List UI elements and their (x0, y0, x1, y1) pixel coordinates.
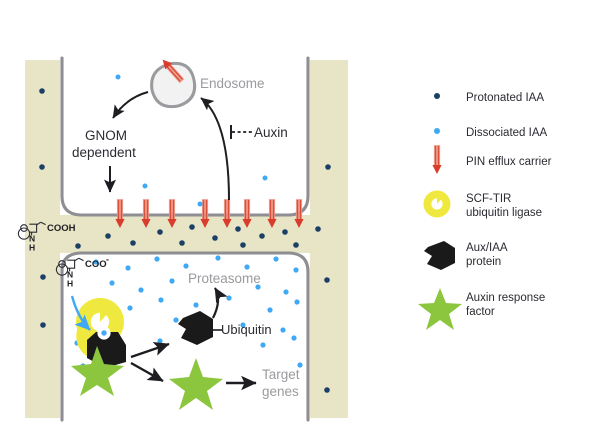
legend-label-protonated-iaa: Protonated IAA (466, 92, 544, 104)
release-branch-arrow (131, 363, 163, 381)
target-genes-label-line2: genes (262, 384, 299, 399)
legend-label-arf-line1: Auxin response (466, 292, 545, 304)
legend-dot-dark-icon (434, 93, 440, 99)
ubiquitinated-aux-iaa (178, 311, 213, 345)
legend-label-scf-tir-line2: ubiquitin ligase (466, 207, 542, 219)
auxin-inhibition-connector (231, 125, 252, 139)
legend-item-protonated-iaa: Protonated IAA (434, 92, 544, 104)
target-genes-label-line1: Target (262, 367, 300, 382)
legend-item-aux-iaa-protein: Aux/IAA protein (424, 241, 508, 270)
legend-pin-arrow-icon (432, 145, 441, 174)
endosome-label: Endosome (200, 76, 265, 91)
legend-item-auxin-response-factor: Auxin response factor (418, 288, 545, 330)
legend-black-shield-icon (424, 241, 455, 270)
auxin-label: Auxin (254, 125, 288, 140)
dissociated-hydrogen-label: H (67, 279, 73, 289)
legend-item-scf-tir: SCF-TIR ubiquitin ligase (424, 191, 543, 220)
proteasome-arrow (213, 288, 218, 318)
endocytosis-arrow (201, 98, 229, 200)
legend-label-scf-tir-line1: SCF-TIR (466, 193, 511, 205)
ubiquitin-label: Ubiquitin (221, 322, 272, 337)
legend-label-arf-line2: factor (466, 306, 495, 318)
legend-dot-light-icon (434, 128, 440, 134)
legend-label-aux-iaa-line1: Aux/IAA (466, 242, 508, 254)
proteasome-label: Proteasome (188, 271, 261, 286)
legend: Protonated IAA Dissociated IAA PIN efflu… (418, 92, 552, 330)
legend-item-dissociated-iaa: Dissociated IAA (434, 127, 548, 139)
dissociated-formula-label: COO (85, 259, 107, 270)
figure-canvas: Endosome GNOM dependent Auxin (0, 0, 600, 438)
protonated-formula-label: COOH (47, 223, 76, 234)
protonated-hydrogen-label: H (29, 243, 35, 253)
legend-green-star-icon (418, 288, 462, 330)
legend-label-dissociated-iaa: Dissociated IAA (466, 127, 548, 139)
legend-label-pin-efflux-carrier: PIN efflux carrier (466, 156, 552, 168)
gnom-recycling-arrow (113, 92, 148, 118)
auxin-response-factor-free (169, 358, 223, 410)
gnom-label-line1: GNOM (85, 128, 127, 143)
legend-item-pin-efflux-carrier: PIN efflux carrier (432, 145, 551, 174)
legend-label-aux-iaa-line2: protein (466, 256, 501, 268)
gnom-label-line2: dependent (72, 145, 136, 160)
endosome-vesicle (152, 57, 195, 107)
dissociated-charge-label: - (106, 255, 109, 265)
legend-yellow-circle-icon (424, 191, 451, 218)
degradation-branch-arrow (131, 344, 169, 357)
